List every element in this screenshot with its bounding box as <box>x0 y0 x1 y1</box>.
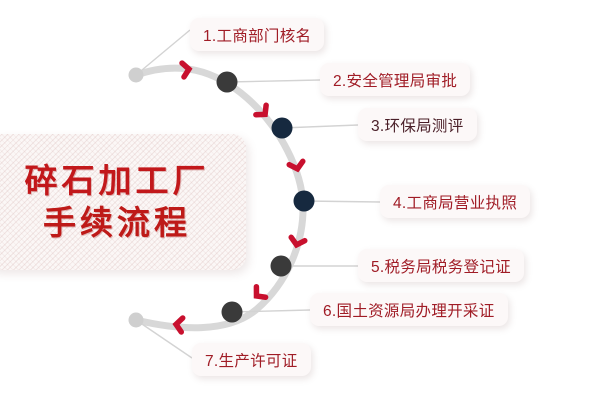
chevron-arrow-5 <box>252 287 266 302</box>
step-label-7[interactable]: 7.生产许可证 <box>192 343 311 376</box>
page-title-line-1: 碎石加工厂 <box>21 164 210 199</box>
step-label-1[interactable]: 1.工商部门核名 <box>190 18 324 51</box>
main-title-panel: 碎石加工厂 手续流程 <box>0 134 246 270</box>
step-label-5[interactable]: 5.税务局税务登记证 <box>358 249 524 282</box>
flow-node-step-5[interactable] <box>271 256 292 277</box>
connector-step-2 <box>227 80 320 82</box>
infographic-canvas: 碎石加工厂 手续流程 1.工商部门核名 2.安全管理局审批 3.环保局测评 4.… <box>0 0 600 400</box>
page-title-line-2: 手续流程 <box>39 206 191 241</box>
flow-node-step-3[interactable] <box>272 118 293 139</box>
step-label-3[interactable]: 3.环保局测评 <box>358 108 477 141</box>
flow-endpoint-end <box>129 313 144 328</box>
step-label-2[interactable]: 2.安全管理局审批 <box>320 63 470 96</box>
connector-step-4 <box>304 201 380 202</box>
step-label-4[interactable]: 4.工商局营业执照 <box>380 185 530 218</box>
step-label-6[interactable]: 6.国土资源局办理开采证 <box>310 293 508 326</box>
flow-node-step-2[interactable] <box>217 72 238 93</box>
flow-node-step-6[interactable] <box>222 302 243 323</box>
connector-step-3 <box>282 125 358 128</box>
flow-node-step-4[interactable] <box>294 191 315 212</box>
connector-step-6 <box>232 310 310 312</box>
flow-endpoint-start <box>129 68 144 83</box>
